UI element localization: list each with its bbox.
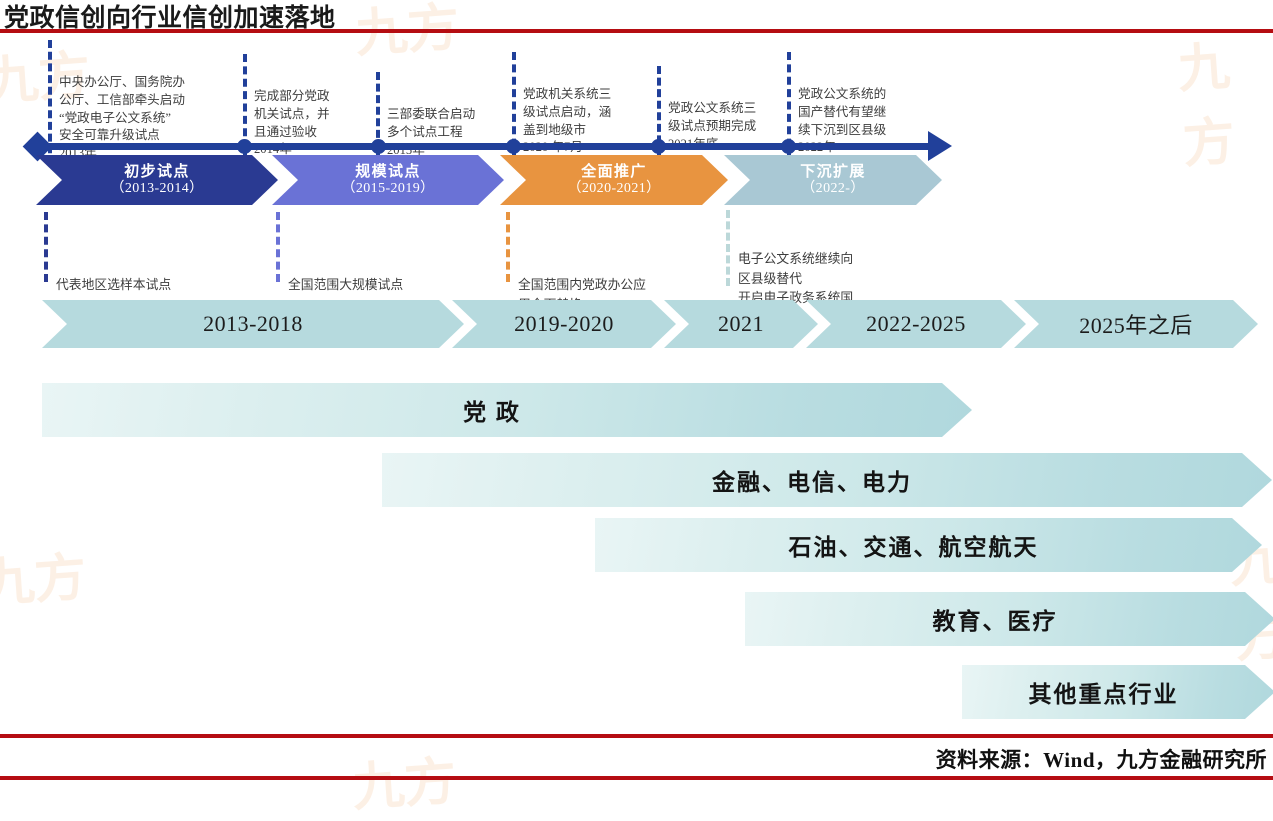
timeline-node [651,139,666,154]
footer-divider-top [0,734,1273,738]
phase-chevron-4[interactable]: 下沉扩展 （2022-） [724,155,942,205]
year-label: 2025年之后 [1079,308,1193,340]
phase-name: 下沉扩展 [800,164,866,181]
year-label: 2022-2025 [866,311,966,337]
industry-label: 其他重点行业 [1029,675,1179,709]
year-segment-1[interactable]: 2013-2018 [42,300,464,348]
phase-description: 全国范围内党政办公应 用全面替换 [506,212,728,282]
phase-range: （2020-2021） [567,181,660,197]
phase-chevron-2[interactable]: 规模试点 （2015-2019） [272,155,504,205]
phase-desc-dash [506,212,514,282]
phase-range: （2013-2014） [110,181,203,197]
industry-label: 党 政 [463,393,521,427]
timeline-node [371,139,386,154]
year-label: 2021 [718,311,764,337]
year-label: 2019-2020 [514,311,614,337]
timeline-arrow-head [928,131,952,161]
industry-bar-education[interactable]: 教育、医疗 [745,592,1273,646]
phase-desc-text: 全国范围大规模试点 [288,250,403,295]
phase-description: 电子公文系统继续向 区县级替代 开启电子政务系统国 产化替代 [726,210,938,286]
phase-desc-text: 代表地区选样本试点 [56,250,171,295]
phase-description: 代表地区选样本试点 [44,212,276,282]
phase-range: （2015-2019） [341,181,434,197]
phase-name: 规模试点 [355,164,421,181]
watermark: 九方 [0,534,89,616]
timeline-axis [42,143,944,150]
phase-chevron-1[interactable]: 初步试点 （2013-2014） [36,155,278,205]
watermark: 九方 [1175,21,1273,177]
phase-chevron-3[interactable]: 全面推广 （2020-2021） [500,155,728,205]
industry-label: 石油、交通、航空航天 [789,528,1039,562]
phase-name: 全面推广 [581,164,647,181]
industry-bar-finance[interactable]: 金融、电信、电力 [382,453,1272,507]
industry-bar-government[interactable]: 党 政 [42,383,972,437]
year-segment-5[interactable]: 2025年之后 [1014,300,1258,348]
timeline-node [237,139,252,154]
year-segment-2[interactable]: 2019-2020 [452,300,676,348]
timeline-node [506,139,521,154]
milestone-note: 党政机关系统三 级试点启动，涵 盖到地级市 2020 年7月 [512,50,653,157]
milestone-note: 党政公文系统三 级试点预期完成 2021年底 [657,64,800,153]
timeline-node [781,139,796,154]
year-segment-3[interactable]: 2021 [664,300,818,348]
phase-desc-dash [44,212,52,282]
industry-label: 金融、电信、电力 [712,463,912,497]
year-segment-4[interactable]: 2022-2025 [806,300,1026,348]
source-note: 资料来源：Wind，九方金融研究所 [936,744,1267,774]
phase-description: 全国范围大规模试点 [276,212,508,282]
phase-desc-dash [726,210,734,286]
industry-bar-energy[interactable]: 石油、交通、航空航天 [595,518,1262,572]
phase-desc-dash [276,212,284,282]
year-label: 2013-2018 [203,311,303,337]
phase-range: （2022-） [801,181,864,197]
phase-name: 初步试点 [124,164,190,181]
industry-bar-other[interactable]: 其他重点行业 [962,665,1273,719]
footer-divider-bottom [0,776,1273,780]
industry-label: 教育、医疗 [933,602,1058,636]
milestone-note: 党政公文系统的 国产替代有望继 续下沉到区县级 2022年 [787,50,933,157]
header-divider [0,29,1273,33]
